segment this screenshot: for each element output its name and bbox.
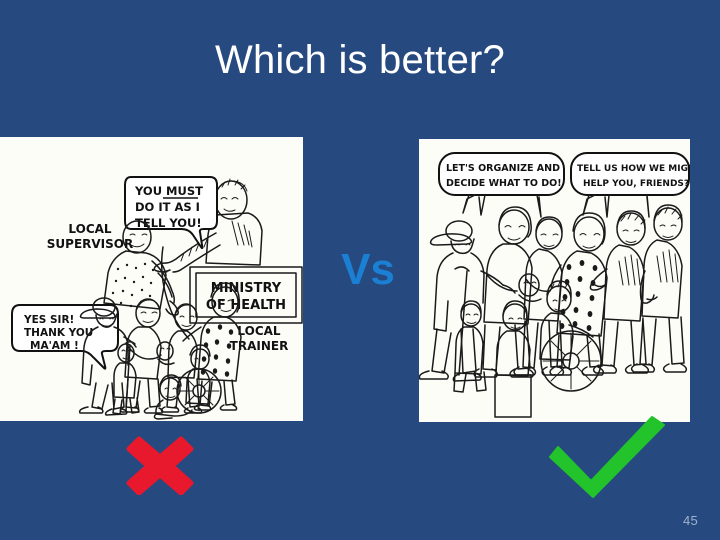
speech-line-2: DO IT AS I xyxy=(135,200,200,214)
speech-line-2: HELP YOU, FRIENDS? xyxy=(583,179,689,189)
speech-line-2: DECIDE WHAT TO DO! xyxy=(446,178,562,189)
label-line1: LOCAL xyxy=(68,222,112,236)
speech-line-1: YES SIR! xyxy=(23,314,74,326)
left-cartoon-panel[interactable]: MINISTRY OF HEALTH YOU MUST DO IT AS I T… xyxy=(0,137,303,421)
speech-line-2: THANK YOU xyxy=(24,327,93,339)
page-number: 45 xyxy=(683,513,698,528)
vs-label: Vs xyxy=(318,248,418,292)
podium-label-line2: OF HEALTH xyxy=(206,298,286,313)
page-title: Which is better? xyxy=(0,38,720,82)
label-line2: TRAINER xyxy=(230,339,289,353)
label-line1: LOCAL xyxy=(237,324,281,338)
speech-line-3: MA'AM ! xyxy=(30,340,79,352)
speech-line-1: LET'S ORGANIZE AND xyxy=(446,163,560,174)
speech-line-1: TELL US HOW WE MIGHT xyxy=(577,164,690,174)
right-cartoon-panel[interactable]: LET'S ORGANIZE AND DECIDE WHAT TO DO! TE… xyxy=(419,139,690,422)
cross-icon xyxy=(125,435,195,495)
label-line2: SUPERVISOR xyxy=(47,237,133,251)
check-icon xyxy=(548,415,666,500)
speech-line-1: YOU MUST xyxy=(134,184,203,198)
slide-canvas: Which is better? xyxy=(0,0,720,540)
